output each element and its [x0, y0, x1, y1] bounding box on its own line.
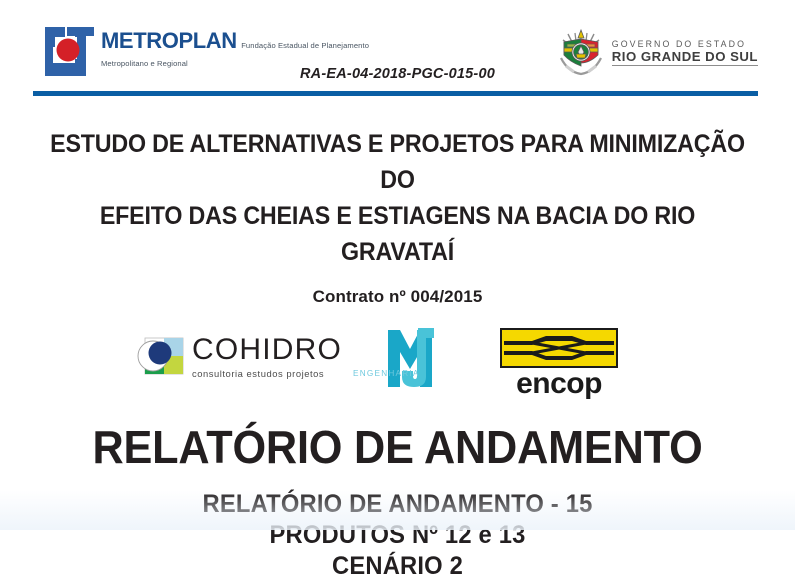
report-number-line: RELATÓRIO DE ANDAMENTO - 15: [20, 489, 775, 520]
mj-monogram-icon: [352, 325, 472, 405]
mj-tagline: ENGENHARIA: [353, 369, 420, 378]
study-title: ESTUDO DE ALTERNATIVAS E PROJETOS PARA M…: [0, 126, 795, 270]
cohidro-mark-icon: [136, 333, 186, 380]
partner-logo-encop: encop: [500, 328, 618, 400]
encop-name: encop: [500, 369, 618, 400]
cohidro-wordmark: COHIDRO consultoria estudos projetos: [192, 335, 342, 379]
study-title-line1: ESTUDO DE ALTERNATIVAS E PROJETOS PARA M…: [50, 126, 745, 198]
contract-number: Contrato nº 004/2015: [0, 287, 795, 307]
report-main-heading: RELATÓRIO DE ANDAMENTO: [24, 421, 771, 473]
metroplan-subtitle-line1: Fundação Estadual de Planejamento: [241, 41, 369, 50]
partner-logos: COHIDRO consultoria estudos projetos ENG…: [0, 325, 795, 411]
document-header: METROPLAN Fundação Estadual de Planejame…: [0, 0, 795, 92]
header-divider: [33, 91, 758, 96]
government-logo: GOVERNO DO ESTADO RIO GRANDE DO SUL: [558, 28, 758, 76]
government-wordmark: GOVERNO DO ESTADO RIO GRANDE DO SUL: [612, 38, 758, 66]
government-line2: RIO GRANDE DO SUL: [612, 49, 758, 67]
products-line: PRODUTOS Nº 12 e 13: [20, 520, 775, 551]
scenario-line: CENÁRIO 2: [20, 551, 775, 582]
partner-logo-mj-engenharia: ENGENHARIA: [352, 325, 472, 411]
government-line1: GOVERNO DO ESTADO: [612, 40, 758, 49]
report-identification: RELATÓRIO DE ANDAMENTO - 15 PRODUTOS Nº …: [0, 489, 795, 582]
study-title-line2: EFEITO DAS CHEIAS E ESTIAGENS NA BACIA D…: [50, 198, 745, 270]
cohidro-tagline: consultoria estudos projetos: [192, 368, 342, 379]
metroplan-wordmark: METROPLAN Fundação Estadual de Planejame…: [101, 27, 369, 71]
cohidro-name: COHIDRO: [192, 335, 342, 365]
rio-grande-do-sul-coat-of-arms-icon: [558, 28, 604, 76]
partner-logo-cohidro: COHIDRO consultoria estudos projetos: [136, 333, 342, 380]
encop-box-icon: [500, 328, 618, 368]
metroplan-name: METROPLAN: [101, 28, 237, 53]
